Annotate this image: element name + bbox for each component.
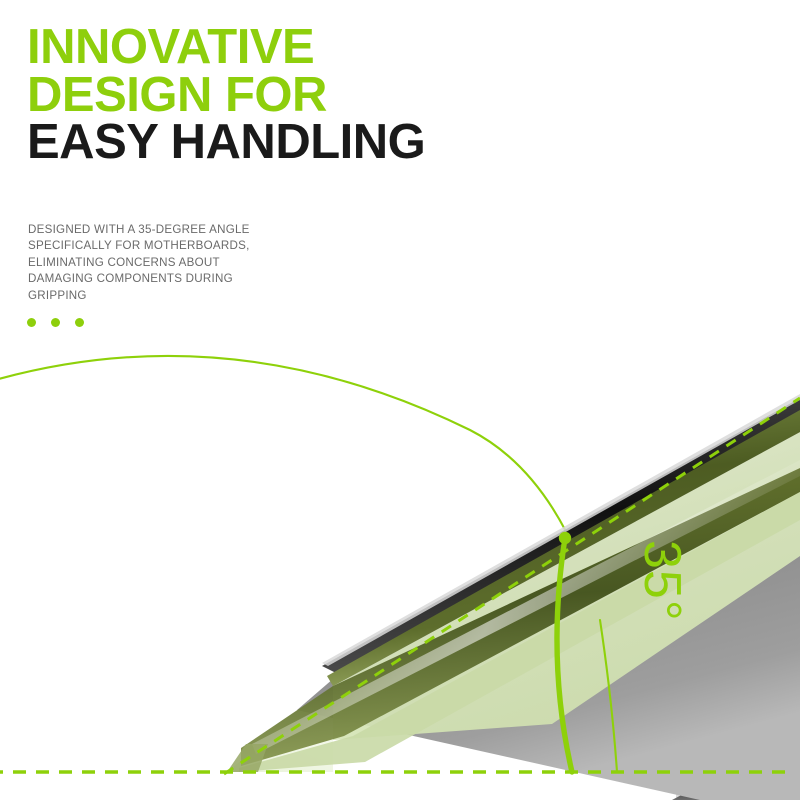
product-feature-banner: 35° INNOVATIVE DESIGN FOR EASY HANDLING … xyxy=(0,0,800,800)
headline-line-3: EASY HANDLING xyxy=(27,119,547,167)
body-copy-line-4: DAMAGING COMPONENTS DURING xyxy=(28,271,328,287)
angle-label: 35° xyxy=(633,540,691,622)
body-copy-line-3: ELIMINATING CONCERNS ABOUT xyxy=(28,255,328,271)
body-copy-line-5: GRIPPING xyxy=(28,288,328,304)
dot-icon xyxy=(51,318,60,327)
decorative-dots xyxy=(27,318,84,327)
body-copy-line-2: SPECIFICALLY FOR MOTHERBOARDS, xyxy=(28,238,328,254)
angle-origin-dot xyxy=(559,532,571,544)
dot-icon xyxy=(27,318,36,327)
dot-icon xyxy=(75,318,84,327)
headline-line-2: DESIGN FOR xyxy=(27,72,547,120)
body-copy: DESIGNED WITH A 35-DEGREE ANGLE SPECIFIC… xyxy=(28,222,328,304)
headline-line-1: INNOVATIVE xyxy=(27,24,547,72)
headline: INNOVATIVE DESIGN FOR EASY HANDLING xyxy=(27,24,547,167)
body-copy-line-1: DESIGNED WITH A 35-DEGREE ANGLE xyxy=(28,222,328,238)
